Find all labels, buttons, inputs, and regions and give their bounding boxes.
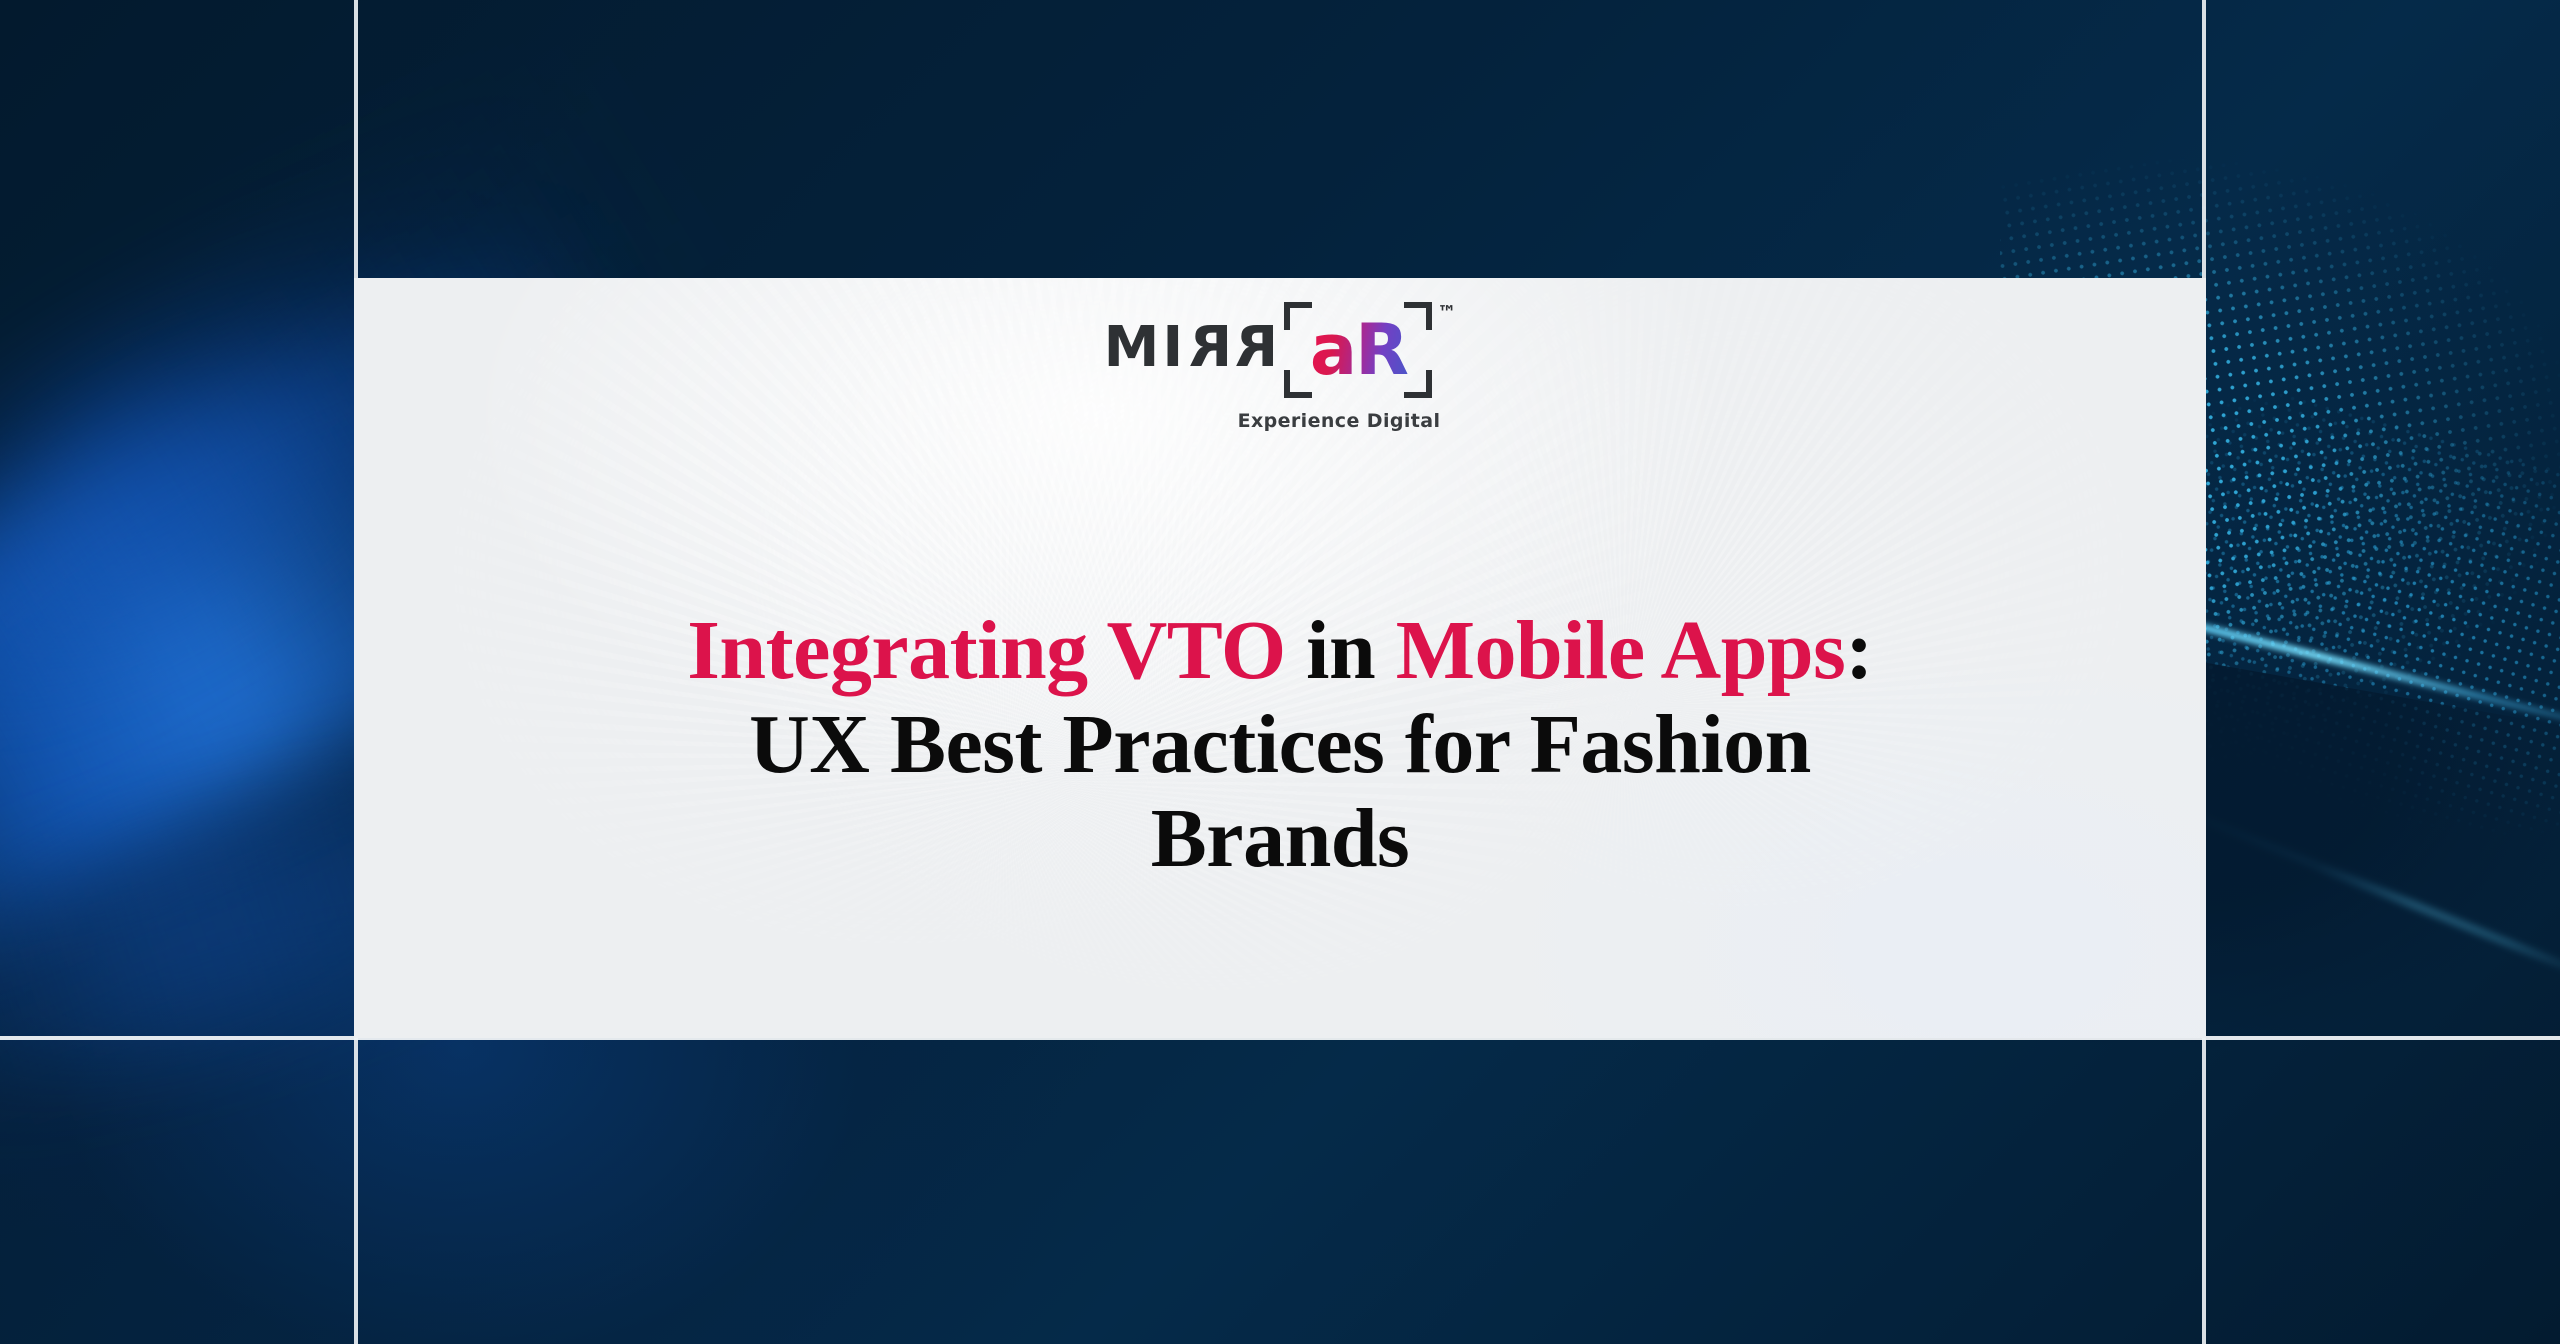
scan-corner-top-right (1404, 302, 1432, 330)
title-line-3: Brands (1151, 792, 1409, 885)
scan-frame-icon: aR (1284, 302, 1432, 398)
logo-letter-r1: R (1186, 320, 1232, 376)
title-segment-mobile-apps: Mobile Apps (1396, 604, 1846, 697)
logo-wordmark-ar: aR (1310, 315, 1407, 385)
scan-corner-bottom-right (1404, 370, 1432, 398)
logo-letter-r2: R (1232, 320, 1278, 376)
slide-canvas: MIRR aR ™ Experience Digital Integrating… (0, 0, 2560, 1344)
logo-letter-i: I (1162, 315, 1186, 380)
scan-corner-top-left (1284, 302, 1312, 330)
logo-wordmark-mirr: MIRR (1104, 320, 1279, 376)
logo-tagline: Experience Digital (1238, 410, 1441, 432)
scan-corner-bottom-left (1284, 370, 1312, 398)
content-card: MIRR aR ™ Experience Digital Integrating… (354, 278, 2206, 1038)
trademark-symbol: ™ (1437, 304, 1456, 323)
title-segment-integrating-vto: Integrating VTO (687, 604, 1285, 697)
brand-logo[interactable]: MIRR aR ™ Experience Digital (354, 302, 2206, 432)
title-segment-colon: : (1845, 604, 1872, 697)
title-segment-in: in (1286, 604, 1396, 697)
logo-lockup: MIRR aR ™ (1104, 302, 1457, 398)
page-title: Integrating VTO in Mobile Apps: UX Best … (414, 604, 2146, 886)
title-line-2: UX Best Practices for Fashion (749, 698, 1811, 791)
logo-letter-m: M (1104, 315, 1163, 380)
